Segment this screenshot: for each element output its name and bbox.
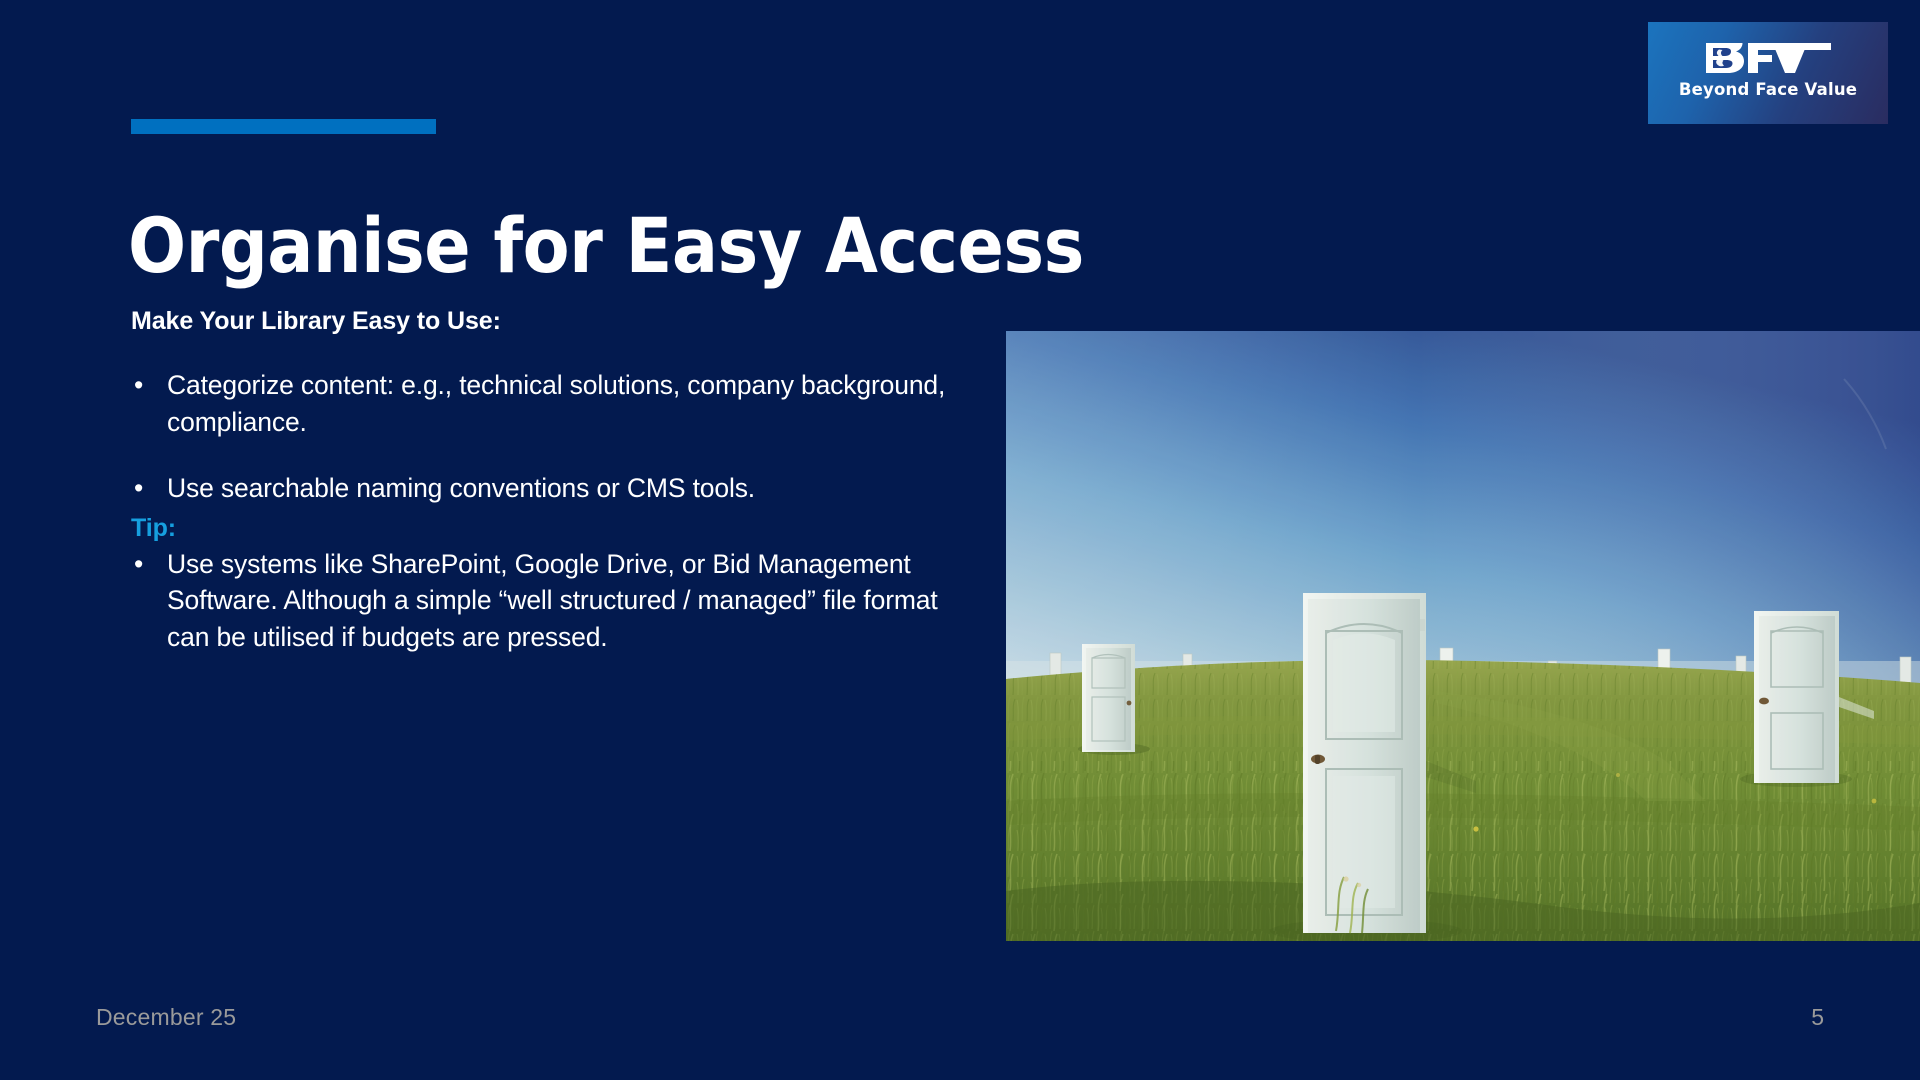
bullet-list: • Categorize content: e.g., technical so… — [131, 367, 976, 506]
tip-bullet-list: • Use systems like SharePoint, Google Dr… — [131, 546, 976, 655]
tip-label: Tip: — [131, 514, 976, 543]
footer-date: December 25 — [96, 1004, 236, 1031]
slide-title: Organise for Easy Access — [128, 208, 1428, 284]
bfv-monogram-icon — [1702, 38, 1834, 78]
brand-logo-badge: Beyond Face Value — [1648, 22, 1888, 124]
body-content: Make Your Library Easy to Use: • Categor… — [131, 306, 976, 655]
logo-tagline: Beyond Face Value — [1648, 80, 1888, 99]
body-heading: Make Your Library Easy to Use: — [131, 306, 976, 337]
doors-in-field-photo — [1006, 331, 1920, 941]
title-accent-bar — [131, 119, 436, 134]
bullet-marker-icon: • — [134, 470, 154, 506]
bullet-marker-icon: • — [134, 367, 154, 403]
bullet-marker-icon: • — [134, 546, 154, 582]
slide-canvas: Beyond Face Value Organise for Easy Acce… — [0, 0, 1920, 1080]
footer-page-number: 5 — [1811, 1004, 1824, 1031]
list-item-text: Use systems like SharePoint, Google Driv… — [167, 549, 938, 652]
list-item: • Use searchable naming conventions or C… — [131, 470, 976, 506]
list-item-text: Use searchable naming conventions or CMS… — [167, 473, 755, 503]
list-item: • Categorize content: e.g., technical so… — [131, 367, 976, 440]
list-item-text: Categorize content: e.g., technical solu… — [167, 370, 945, 436]
list-item: • Use systems like SharePoint, Google Dr… — [131, 546, 976, 655]
